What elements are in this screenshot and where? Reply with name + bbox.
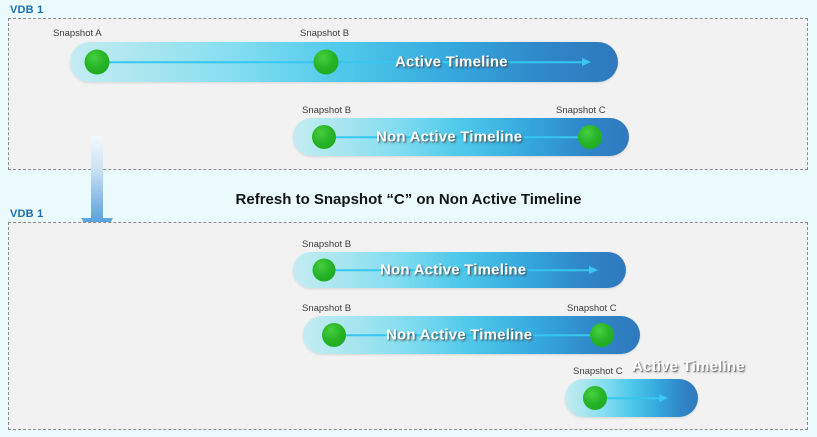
timeline-arrowhead-icon — [659, 394, 668, 402]
refresh-caption: Refresh to Snapshot “C” on Non Active Ti… — [0, 191, 817, 208]
timeline-label-bottom-active: Active Timeline — [632, 358, 745, 375]
diagram-canvas: VDB 1 Snapshot A Snapshot B Active Timel… — [0, 0, 817, 437]
timeline-bar-top-nonactive[interactable]: Non Active Timeline — [293, 118, 629, 156]
snapshot-dot-b-top-nonactive[interactable] — [312, 125, 336, 149]
timeline-label-bottom-nonactive-2: Non Active Timeline — [386, 327, 532, 344]
timeline-bar-bottom-nonactive-2[interactable]: Non Active Timeline — [303, 316, 640, 354]
timeline-label-bottom-nonactive-1: Non Active Timeline — [380, 262, 526, 279]
snapshot-label-b-top-active: Snapshot B — [300, 28, 349, 39]
snapshot-label-b-top-nonactive: Snapshot B — [302, 105, 351, 116]
snapshot-label-b-bottom-1: Snapshot B — [302, 239, 351, 250]
snapshot-dot-c-bottom-active[interactable] — [583, 386, 607, 410]
timeline-connector-line — [96, 61, 586, 63]
top-vdb-group-label: VDB 1 — [10, 4, 43, 16]
snapshot-dot-c-bottom-2[interactable] — [590, 323, 614, 347]
timeline-bar-top-active[interactable]: Active Timeline — [70, 42, 618, 82]
timeline-label-top-nonactive: Non Active Timeline — [376, 129, 522, 146]
snapshot-label-a-top: Snapshot A — [53, 28, 102, 39]
snapshot-label-c-bottom-active: Snapshot C — [573, 366, 623, 377]
snapshot-label-b-bottom-2: Snapshot B — [302, 303, 351, 314]
bottom-vdb-group-label: VDB 1 — [10, 208, 43, 220]
timeline-bar-bottom-active[interactable] — [565, 379, 698, 417]
snapshot-dot-b-top-active[interactable] — [314, 50, 339, 75]
timeline-label-top-active: Active Timeline — [395, 54, 508, 71]
timeline-bar-bottom-nonactive-1[interactable]: Non Active Timeline — [293, 252, 626, 288]
timeline-arrowhead-icon — [589, 266, 598, 274]
snapshot-dot-a-top[interactable] — [85, 50, 110, 75]
snapshot-dot-c-top-nonactive[interactable] — [578, 125, 602, 149]
snapshot-dot-b-bottom-1[interactable] — [313, 259, 336, 282]
snapshot-label-c-bottom-2: Snapshot C — [567, 303, 617, 314]
timeline-arrowhead-icon — [582, 58, 591, 66]
snapshot-dot-b-bottom-2[interactable] — [322, 323, 346, 347]
snapshot-label-c-top-nonactive: Snapshot C — [556, 105, 606, 116]
